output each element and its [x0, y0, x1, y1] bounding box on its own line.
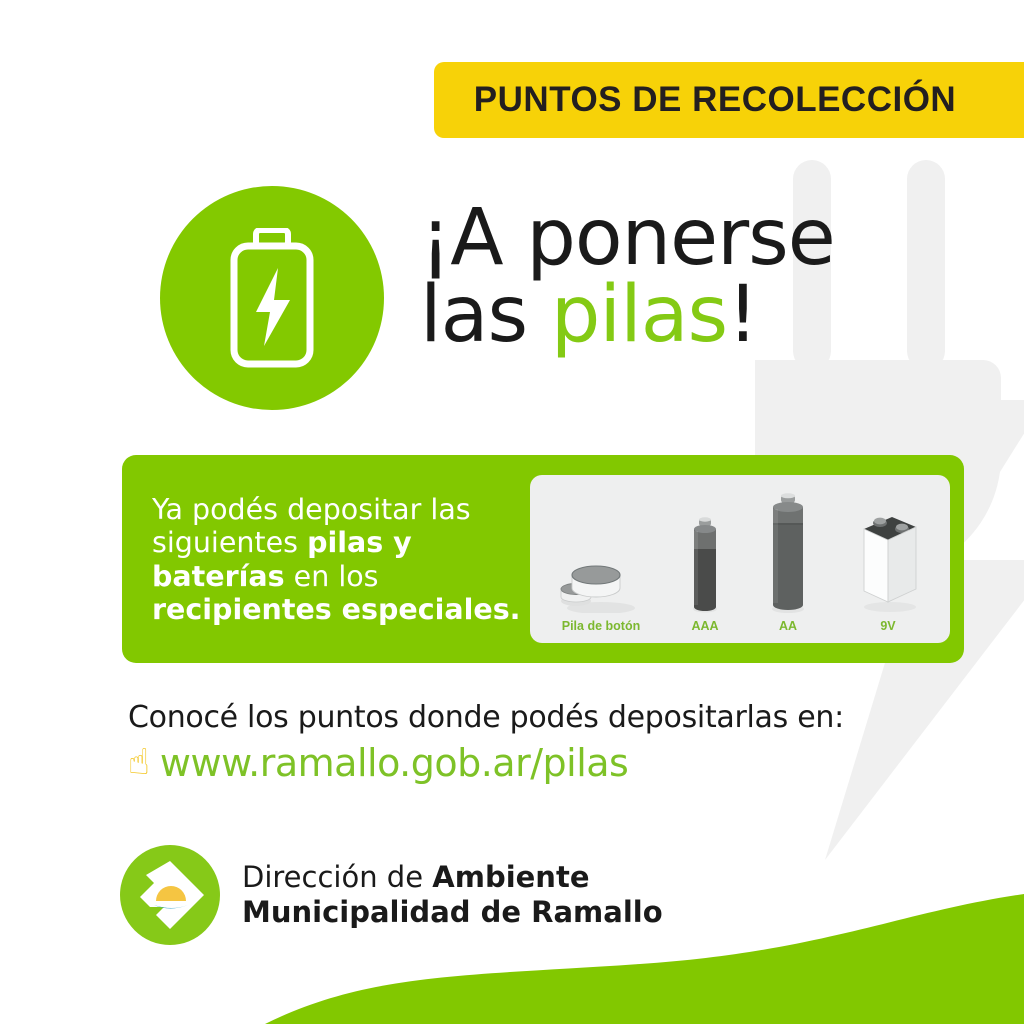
battery-bolt-icon [160, 186, 384, 410]
battery-item-aa: AA [766, 483, 810, 633]
headline-line-2-end: ! [727, 270, 757, 360]
cta-url-link[interactable]: www.ramallo.gob.ar/pilas [160, 741, 628, 785]
ramallo-sun-arrow-logo [120, 845, 220, 945]
info-panel: Ya podés depositar las siguientes pilas … [122, 455, 964, 663]
battery-item-coin: Pila de botón [558, 483, 644, 633]
headline-line-2-plain: las [420, 270, 551, 360]
panel-text-plain: en los [285, 560, 379, 593]
panel-text-bold: recipientes especiales. [152, 593, 520, 626]
battery-label: 9V [880, 619, 895, 633]
cta-url-row[interactable]: ☝ www.ramallo.gob.ar/pilas [128, 741, 844, 785]
battery-list: Pila de botón [530, 475, 950, 643]
aa-battery-icon [766, 491, 810, 613]
footer-line-1-bold: Ambiente [432, 860, 589, 894]
header-banner: PUNTOS DE RECOLECCIÓN [434, 62, 1024, 138]
footer-branding: Dirección de Ambiente Municipalidad de R… [120, 845, 663, 945]
footer-line-1: Dirección de Ambiente [242, 860, 663, 895]
footer-line-1-plain: Dirección de [242, 860, 432, 894]
headline-line-2: las pilas! [420, 277, 835, 354]
battery-item-9v: 9V [854, 483, 922, 633]
battery-label: AA [779, 619, 797, 633]
battery-showcase-card: Pila de botón [530, 475, 950, 643]
cta-prompt: Conocé los puntos donde podés depositarl… [128, 700, 844, 735]
battery-item-aaa: AAA [688, 483, 722, 633]
poster-canvas: PUNTOS DE RECOLECCIÓN ¡A ponerse las pil… [0, 0, 1024, 1024]
page-title: ¡A ponerse las pilas! [420, 200, 835, 354]
nine-volt-battery-icon [854, 491, 922, 613]
battery-label: AAA [691, 619, 718, 633]
pointing-up-hand-icon: ☝ [128, 745, 150, 781]
battery-label: Pila de botón [562, 619, 640, 633]
banner-title: PUNTOS DE RECOLECCIÓN [474, 80, 994, 120]
coin-cell-icon [558, 491, 644, 613]
footer-text: Dirección de Ambiente Municipalidad de R… [242, 860, 663, 930]
footer-line-2: Municipalidad de Ramallo [242, 895, 663, 929]
panel-description: Ya podés depositar las siguientes pilas … [152, 493, 542, 626]
aaa-battery-icon [688, 491, 722, 613]
headline-accent-word: pilas [551, 270, 727, 360]
call-to-action: Conocé los puntos donde podés depositarl… [128, 700, 844, 785]
